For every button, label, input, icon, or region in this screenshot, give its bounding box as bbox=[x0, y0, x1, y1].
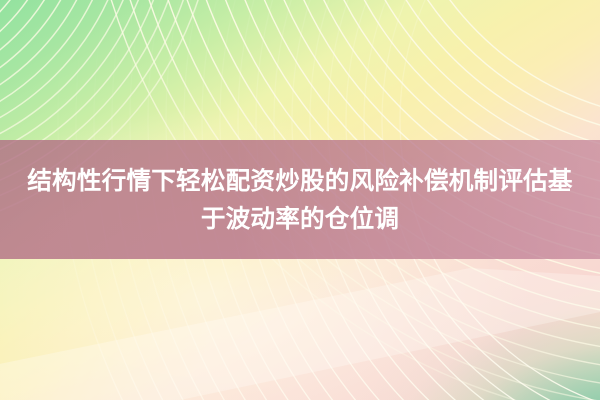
cover-image-canvas: 结构性行情下轻松配资炒股的风险补偿机制评估基 于波动率的仓位调 bbox=[0, 0, 600, 400]
title-banner: 结构性行情下轻松配资炒股的风险补偿机制评估基 于波动率的仓位调 bbox=[0, 140, 600, 259]
title-line-1: 结构性行情下轻松配资炒股的风险补偿机制评估基 bbox=[27, 162, 572, 200]
title-line-2: 于波动率的仓位调 bbox=[201, 200, 399, 238]
